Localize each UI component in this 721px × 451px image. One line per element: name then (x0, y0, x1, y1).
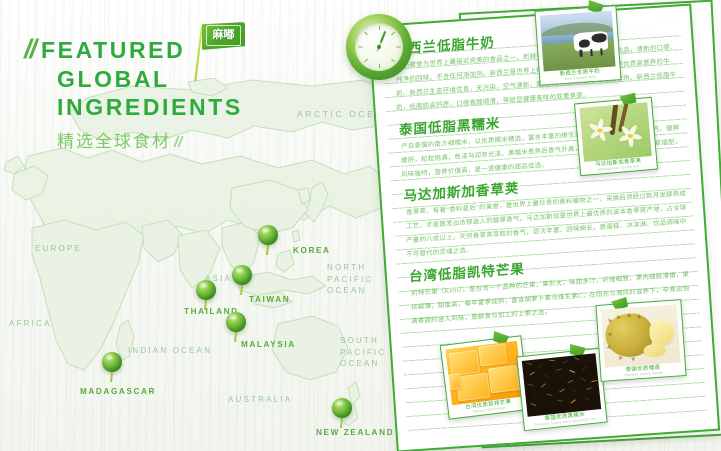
poster-canvas: ARCTIC OCEAN EUROPE AFRICA ASIA INDIAN O… (0, 0, 721, 451)
photo-new-zealand-milk[interactable]: 新西兰优质牛奶 New Zealand Milk (534, 5, 621, 86)
pin-head-icon (196, 280, 216, 300)
map-pin-label-malaysia: MALAYSIA (241, 340, 296, 349)
title-ingredients: INGREDIENTS (57, 93, 243, 122)
map-pin-malaysia[interactable] (226, 312, 248, 342)
photo-thailand-durian[interactable]: 泰国优质榴莲 Thailand quality durian (595, 299, 686, 382)
title-line-3: INGREDIENTS (57, 93, 243, 122)
map-label-indian-ocean: INDIAN OCEAN (128, 345, 212, 357)
photo-madagascar-vanilla[interactable]: 马达加斯加香草荚 Madagascar vanilla pod (574, 97, 658, 177)
map-pin-label-new-zealand: NEW ZEALAND (316, 428, 394, 437)
map-label-north-pacific-ocean: NORTH PACIFIC OCEAN (327, 262, 373, 297)
map-pin-thailand[interactable] (196, 280, 218, 310)
photo-image-black-rice (522, 353, 601, 416)
map-pin-korea[interactable] (258, 225, 280, 255)
pin-head-icon (226, 312, 246, 332)
photo-image-cow (540, 11, 616, 72)
compass-icon (346, 14, 412, 80)
map-pin-label-korea: KOREA (293, 246, 331, 255)
subtitle-chinese: 精选全球食材 (57, 127, 171, 152)
photo-image-durian (601, 304, 681, 367)
map-label-africa: AFRICA (9, 318, 52, 330)
note-entry-madagascar-vanilla: 马达加斯加香草荚 香草荚，有着“香料皇后”的美誉，是世界上最珍贵的香料植物之一，… (403, 170, 689, 263)
map-label-australia: AUSTRALIA (228, 394, 292, 406)
brand-flag-icon: 麻嘟 (185, 12, 245, 82)
photo-taiwan-mango[interactable]: 台湾优质凯特芒果 Taiwan Keitt mango (440, 335, 531, 419)
map-pin-label-taiwan: TAIWAN (249, 295, 290, 304)
title-featured: FEATURED (41, 36, 185, 65)
flag-brand-text: 麻嘟 (213, 30, 235, 41)
subtitle-slash-mark: // (174, 134, 182, 151)
photo-thailand-black-rice[interactable]: 泰国优质黑糯米 Thailand quality black glutinous… (516, 348, 607, 431)
title-subtitle-line: 精选全球食材 // (57, 122, 243, 152)
flag-cloth: 麻嘟 (202, 22, 245, 50)
slash-mark: // (24, 36, 35, 63)
photo-image-mango-cubes (445, 341, 523, 405)
compass-hub (377, 45, 381, 49)
map-pin-taiwan[interactable] (232, 265, 254, 295)
map-pin-new-zealand[interactable] (332, 398, 354, 428)
title-global: GLOBAL (57, 65, 170, 94)
compass-face (355, 23, 403, 71)
photo-image-vanilla-flowers (579, 102, 651, 162)
pin-head-icon (258, 225, 278, 245)
map-label-south-pacific-ocean: SOUTH PACIFIC OCEAN (340, 335, 386, 370)
pin-head-icon (232, 265, 252, 285)
map-pin-madagascar[interactable] (102, 352, 124, 382)
map-pin-label-madagascar: MADAGASCAR (80, 387, 156, 396)
map-label-europe: EUROPE (35, 243, 82, 255)
pin-head-icon (332, 398, 352, 418)
pin-head-icon (102, 352, 122, 372)
